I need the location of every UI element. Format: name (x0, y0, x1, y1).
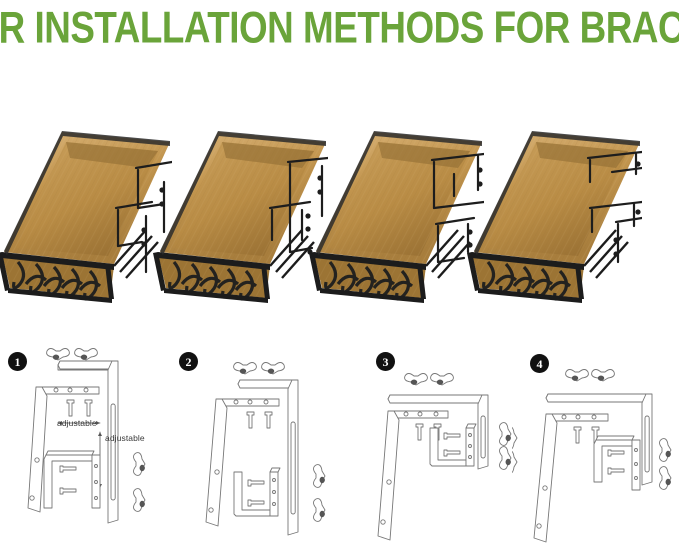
method-2-drawing (166, 340, 338, 555)
method-1-drawing (0, 340, 178, 555)
planter-box-4 (466, 112, 642, 307)
product-photo-row (0, 112, 679, 307)
planter-box-3 (308, 112, 484, 307)
method-3: 3 (360, 340, 525, 555)
infographic-page: FOUR INSTALLATION METHODS FOR BRACKET (0, 0, 679, 555)
installation-methods-row: 1 (0, 340, 679, 555)
method-1: 1 (0, 340, 178, 555)
page-title-bar: FOUR INSTALLATION METHODS FOR BRACKET (0, 0, 679, 56)
method-3-drawing (360, 340, 525, 555)
method-4-drawing (512, 340, 679, 555)
page-title: FOUR INSTALLATION METHODS FOR BRACKET (0, 6, 679, 51)
method-1-label-adjustable-horizontal: adjustable (57, 418, 97, 428)
method-2: 2 (166, 340, 338, 555)
planter-box-2 (152, 112, 328, 307)
planter-box-1 (0, 112, 172, 307)
method-1-label-adjustable-vertical: adjustable (105, 433, 145, 443)
method-4: 4 (512, 340, 679, 555)
